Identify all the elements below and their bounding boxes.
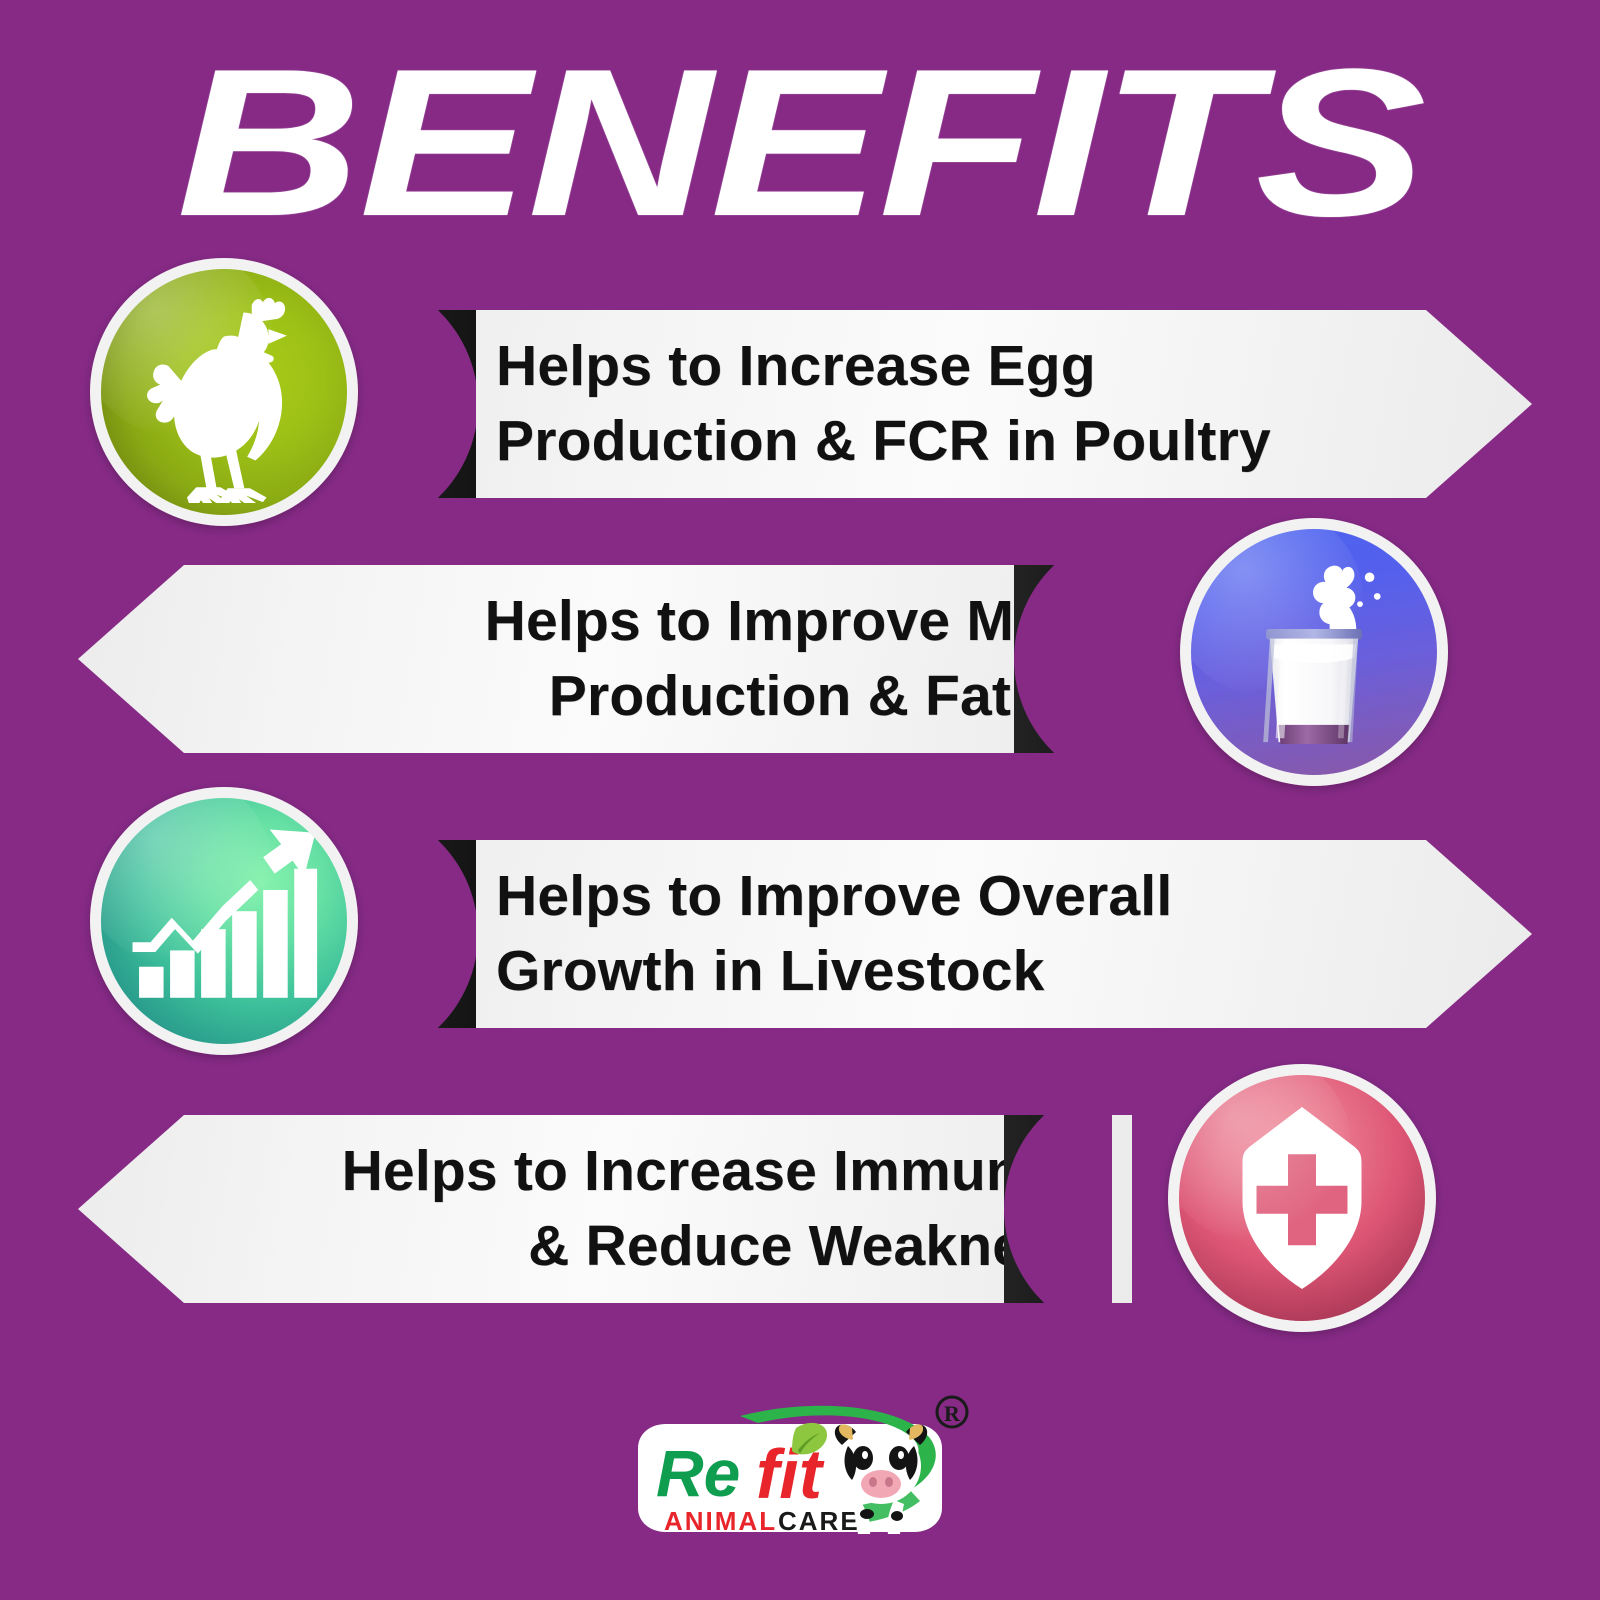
benefit-row-immunity: Helps to Increase Immunity & Reduce Weak… xyxy=(0,1055,1600,1345)
benefit-row-milk: Helps to Improve Milk Production & Fat % xyxy=(0,505,1600,795)
growth-chart-icon-glyph xyxy=(126,823,322,1019)
logo-graphic: Re fit ANIMAL CARE xyxy=(620,1388,980,1548)
svg-text:ANIMAL: ANIMAL xyxy=(664,1506,777,1536)
growth-chart-icon xyxy=(90,787,358,1055)
growth-chart-icon-disc xyxy=(101,798,347,1044)
shield-plus-icon xyxy=(1168,1064,1436,1332)
svg-text:CARE: CARE xyxy=(778,1506,860,1536)
svg-text:R: R xyxy=(944,1401,961,1426)
shield-plus-icon-glyph xyxy=(1197,1093,1407,1303)
page-title-wrapper: BENEFITS xyxy=(0,38,1600,248)
milk-glass-icon-disc xyxy=(1191,529,1437,775)
benefit-banner-immunity[interactable]: Helps to Increase Immunity & Reduce Weak… xyxy=(78,1115,1132,1303)
chicken-icon-disc xyxy=(101,269,347,515)
banner-crescent-immunity xyxy=(1004,1115,1112,1303)
svg-text:Re: Re xyxy=(656,1436,740,1510)
milk-glass-icon-glyph xyxy=(1199,537,1429,767)
benefit-banner-milk[interactable]: Helps to Improve Milk Production & Fat % xyxy=(78,565,1122,753)
registered-mark: R xyxy=(937,1397,967,1427)
chicken-icon-glyph xyxy=(113,281,335,503)
chicken-icon xyxy=(90,258,358,526)
benefit-row-poultry: Helps to Increase Egg Production & FCR i… xyxy=(0,250,1600,540)
benefit-row-growth: Helps to Improve Overall Growth in Lives… xyxy=(0,780,1600,1070)
benefit-text-immunity: Helps to Increase Immunity & Reduce Weak… xyxy=(342,1134,1088,1284)
shield-plus-icon-disc xyxy=(1179,1075,1425,1321)
banner-crescent-poultry xyxy=(368,310,476,498)
banner-crescent-milk xyxy=(1014,565,1122,753)
benefit-text-milk: Helps to Improve Milk Production & Fat % xyxy=(485,584,1078,734)
page-title: BENEFITS xyxy=(176,38,1423,248)
benefit-banner-growth[interactable]: Helps to Improve Overall Growth in Lives… xyxy=(368,840,1532,1028)
benefit-text-growth: Helps to Improve Overall Growth in Lives… xyxy=(496,859,1172,1009)
milk-glass-icon xyxy=(1180,518,1448,786)
banner-crescent-growth xyxy=(368,840,476,1028)
benefit-banner-poultry[interactable]: Helps to Increase Egg Production & FCR i… xyxy=(368,310,1532,498)
refit-animal-care-logo[interactable]: Re fit ANIMAL CARE xyxy=(620,1388,980,1548)
benefit-text-poultry: Helps to Increase Egg Production & FCR i… xyxy=(496,329,1271,479)
